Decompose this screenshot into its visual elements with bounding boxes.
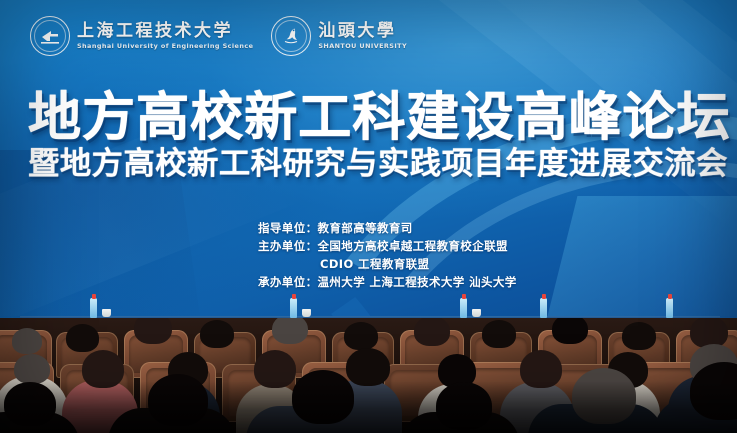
logo-label-en-2: SHANTOU UNIVERSITY — [318, 43, 407, 49]
organizing-unit-line: 承办单位：温州大学 上海工程技术大学 汕头大学 — [258, 273, 517, 291]
event-main-title: 地方高校新工科建设高峰论坛 — [28, 92, 737, 145]
paper-cup — [472, 309, 481, 317]
paper-cup — [302, 309, 311, 317]
audience-person — [148, 374, 208, 426]
host-unit-line: 主办单位：全国地方高校卓越工程教育校企联盟 — [258, 237, 517, 255]
audience-person — [12, 328, 42, 354]
audience-person — [272, 318, 308, 344]
conference-photo: 學 TY 上海工程技术大学 Shanghai University of Eng… — [0, 0, 737, 433]
water-bottle — [90, 298, 97, 318]
water-bottle — [290, 298, 297, 318]
organizer-info-block: 指导单位：教育部高等教育司 主办单位：全国地方高校卓越工程教育校企联盟 CDIO… — [258, 219, 517, 291]
audience-person — [436, 382, 492, 430]
logo-label-en-0: TY — [0, 42, 8, 48]
logo-shanghai-university-of-engineering-science: 上海工程技术大学 Shanghai University of Engineer… — [30, 16, 253, 56]
audience-person — [482, 320, 516, 348]
event-subtitle: 暨地方高校新工科研究与实践项目年度进展交流会 — [28, 148, 737, 181]
audience-person — [66, 324, 99, 352]
audience-person — [552, 318, 588, 344]
audience-person — [344, 322, 378, 350]
logo-label-cn-1: 上海工程技术大学 — [77, 23, 253, 40]
shantou-crane-emblem-icon — [271, 16, 311, 56]
audience-person — [622, 322, 656, 350]
audience-person — [82, 350, 124, 388]
audience-seating-area — [0, 318, 737, 433]
audience-person — [520, 350, 562, 388]
host-unit-line-2: CDIO 工程教育联盟 — [258, 255, 517, 273]
guidance-unit-line: 指导单位：教育部高等教育司 — [258, 219, 517, 237]
water-bottle — [540, 298, 547, 318]
water-bottle — [460, 298, 467, 318]
audience-person — [200, 320, 234, 348]
audience-person — [346, 348, 390, 386]
water-bottle — [666, 298, 673, 318]
event-title-block: 地方高校新工科建设高峰论坛 暨地方高校新工科研究与实践项目年度进展交流会 — [28, 92, 737, 181]
logo-wenzhou-university-cropped: 學 TY — [0, 24, 8, 48]
logo-label-en-1: Shanghai University of Engineering Scien… — [77, 43, 253, 49]
sues-seal-emblem-icon — [30, 16, 70, 56]
logo-shantou-university: 汕頭大學 SHANTOU UNIVERSITY — [271, 16, 407, 56]
paper-cup — [102, 309, 111, 317]
audience-person — [292, 370, 354, 424]
audience-person — [414, 318, 450, 346]
audience-person — [254, 350, 296, 388]
audience-person — [14, 354, 50, 384]
university-logo-row: 學 TY 上海工程技术大学 Shanghai University of Eng… — [0, 8, 407, 64]
audience-person — [134, 318, 172, 344]
audience-person — [4, 382, 56, 426]
logo-label-cn-2: 汕頭大學 — [318, 23, 407, 40]
audience-person — [572, 368, 636, 424]
logo-label-cn-0: 學 — [0, 24, 8, 39]
